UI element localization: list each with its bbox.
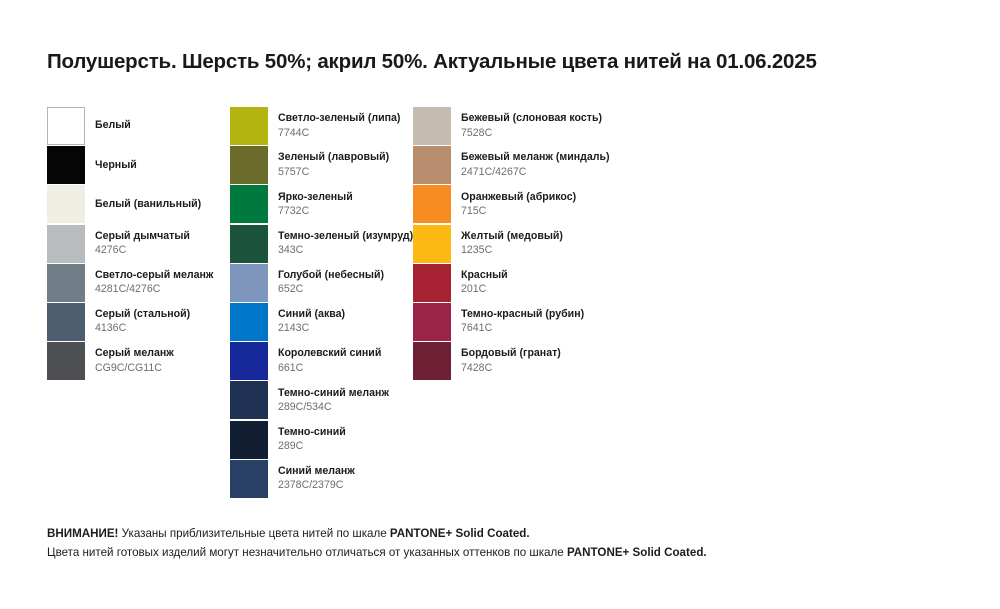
color-swatch xyxy=(230,381,268,419)
disclaimer-line-1-text: Указаны приблизительные цвета нитей по ш… xyxy=(118,527,389,540)
color-swatch xyxy=(47,225,85,263)
color-card-page: Полушерсть. Шерсть 50%; акрил 50%. Актуа… xyxy=(0,0,1000,609)
color-swatch-row[interactable]: Зеленый (лавровый)5757C xyxy=(230,146,430,185)
swatch-pantone-code: 4276C xyxy=(95,244,190,257)
swatch-name: Голубой (небесный) xyxy=(278,269,384,282)
swatch-name: Светло-серый меланж xyxy=(95,269,213,282)
color-swatch xyxy=(413,264,451,302)
swatch-name: Синий меланж xyxy=(278,465,355,478)
color-swatch-row[interactable]: Светло-зеленый (липа)7744C xyxy=(230,107,430,146)
swatch-name: Оранжевый (абрикос) xyxy=(461,191,576,204)
color-swatch xyxy=(413,185,451,223)
color-swatch xyxy=(47,185,85,223)
color-swatch xyxy=(230,303,268,341)
swatch-name: Бежевый меланж (миндаль) xyxy=(461,151,610,164)
swatch-labels: Синий меланж2378C/2379C xyxy=(278,460,355,498)
swatch-labels: Бежевый меланж (миндаль)2471C/4267C xyxy=(461,146,610,184)
swatch-name: Бежевый (слоновая кость) xyxy=(461,112,602,125)
swatch-pantone-code: 661C xyxy=(278,362,381,375)
color-swatch xyxy=(230,342,268,380)
swatch-name: Черный xyxy=(95,159,137,172)
disclaimer-line-2: Цвета нитей готовых изделий могут незнач… xyxy=(47,544,947,563)
swatch-labels: Светло-серый меланж4281C/4276C xyxy=(95,264,213,302)
swatch-pantone-code: 7744C xyxy=(278,127,400,140)
color-swatch xyxy=(47,264,85,302)
swatch-labels: Бордовый (гранат)7428C xyxy=(461,342,561,380)
color-swatch xyxy=(413,146,451,184)
color-swatch-row[interactable]: Оранжевый (абрикос)715C xyxy=(413,185,613,224)
color-swatch xyxy=(230,107,268,145)
color-swatch-row[interactable]: Светло-серый меланж4281C/4276C xyxy=(47,264,247,303)
swatch-name: Желтый (медовый) xyxy=(461,230,563,243)
swatch-labels: Желтый (медовый)1235C xyxy=(461,225,563,263)
swatch-labels: Бежевый (слоновая кость)7528C xyxy=(461,107,602,145)
swatch-pantone-code: 715C xyxy=(461,205,576,218)
color-swatch xyxy=(413,342,451,380)
color-swatch-row[interactable]: Синий меланж2378C/2379C xyxy=(230,460,430,499)
color-swatch-row[interactable]: Серый меланжCG9C/CG11C xyxy=(47,342,247,381)
color-swatch-row[interactable]: Серый (стальной)4136C xyxy=(47,303,247,342)
swatch-name: Белый (ванильный) xyxy=(95,198,201,211)
swatch-labels: Красный201C xyxy=(461,264,508,302)
color-swatch-row[interactable]: Красный201C xyxy=(413,264,613,303)
swatch-labels: Оранжевый (абрикос)715C xyxy=(461,185,576,223)
swatch-labels: Зеленый (лавровый)5757C xyxy=(278,146,389,184)
color-swatch-row[interactable]: Темно-синий меланж289C/534C xyxy=(230,381,430,420)
swatch-name: Светло-зеленый (липа) xyxy=(278,112,400,125)
color-swatch xyxy=(413,225,451,263)
color-swatch-row[interactable]: Белый (ванильный) xyxy=(47,185,247,224)
color-swatch-row[interactable]: Бежевый меланж (миндаль)2471C/4267C xyxy=(413,146,613,185)
swatch-name: Темно-синий xyxy=(278,426,346,439)
color-swatch xyxy=(47,342,85,380)
color-swatch xyxy=(230,421,268,459)
color-swatch-row[interactable]: Бежевый (слоновая кость)7528C xyxy=(413,107,613,146)
disclaimer-note: ВНИМАНИЕ! Указаны приблизительные цвета … xyxy=(47,525,947,563)
swatch-name: Белый xyxy=(95,119,131,132)
swatch-pantone-code: 7428C xyxy=(461,362,561,375)
color-swatch xyxy=(230,460,268,498)
swatch-pantone-code: 7528C xyxy=(461,127,602,140)
swatch-labels: Темно-зеленый (изумруд)343C xyxy=(278,225,413,263)
disclaimer-line-1: ВНИМАНИЕ! Указаны приблизительные цвета … xyxy=(47,525,947,544)
color-swatch-row[interactable]: Темно-зеленый (изумруд)343C xyxy=(230,225,430,264)
color-swatch-row[interactable]: Белый xyxy=(47,107,247,146)
color-swatch-row[interactable]: Черный xyxy=(47,146,247,185)
swatch-pantone-code: 289C xyxy=(278,440,346,453)
swatch-pantone-code: 343C xyxy=(278,244,413,257)
swatch-labels: Темно-красный (рубин)7641C xyxy=(461,303,584,341)
swatch-labels: Синий (аква)2143C xyxy=(278,303,345,341)
color-swatch xyxy=(47,146,85,184)
swatch-name: Красный xyxy=(461,269,508,282)
color-swatch xyxy=(47,107,85,145)
swatch-labels: Королевский синий661C xyxy=(278,342,381,380)
swatch-name: Зеленый (лавровый) xyxy=(278,151,389,164)
color-swatch xyxy=(230,185,268,223)
swatch-labels: Черный xyxy=(95,146,137,184)
swatch-labels: Серый дымчатый4276C xyxy=(95,225,190,263)
color-swatch-row[interactable]: Королевский синий661C xyxy=(230,342,430,381)
palette-column: БелыйЧерныйБелый (ванильный)Серый дымчат… xyxy=(47,107,247,381)
swatch-labels: Светло-зеленый (липа)7744C xyxy=(278,107,400,145)
swatch-labels: Серый (стальной)4136C xyxy=(95,303,190,341)
pantone-brand-2: PANTONE+ Solid Coated. xyxy=(567,546,707,559)
swatch-name: Серый дымчатый xyxy=(95,230,190,243)
color-swatch xyxy=(413,303,451,341)
swatch-pantone-code: 2471C/4267C xyxy=(461,166,610,179)
color-swatch xyxy=(230,146,268,184)
disclaimer-line-2-text: Цвета нитей готовых изделий могут незнач… xyxy=(47,546,567,559)
swatch-name: Темно-зеленый (изумруд) xyxy=(278,230,413,243)
swatch-labels: Белый xyxy=(95,107,131,145)
color-swatch-row[interactable]: Ярко-зеленый7732C xyxy=(230,185,430,224)
swatch-name: Бордовый (гранат) xyxy=(461,347,561,360)
swatch-name: Синий (аква) xyxy=(278,308,345,321)
swatch-name: Серый меланж xyxy=(95,347,174,360)
pantone-brand-1: PANTONE+ Solid Coated. xyxy=(390,527,530,540)
color-swatch xyxy=(47,303,85,341)
swatch-name: Темно-синий меланж xyxy=(278,387,389,400)
swatch-pantone-code: 652C xyxy=(278,283,384,296)
swatch-pantone-code: 2143C xyxy=(278,322,345,335)
swatch-labels: Голубой (небесный)652C xyxy=(278,264,384,302)
swatch-pantone-code: 289C/534C xyxy=(278,401,389,414)
swatch-name: Королевский синий xyxy=(278,347,381,360)
palette-column: Бежевый (слоновая кость)7528CБежевый мел… xyxy=(413,107,613,381)
swatch-pantone-code: 4281C/4276C xyxy=(95,283,213,296)
color-swatch-row[interactable]: Голубой (небесный)652C xyxy=(230,264,430,303)
swatch-labels: Серый меланжCG9C/CG11C xyxy=(95,342,174,380)
swatch-labels: Темно-синий меланж289C/534C xyxy=(278,381,389,419)
swatch-pantone-code: 2378C/2379C xyxy=(278,479,355,492)
palette-column: Светло-зеленый (липа)7744CЗеленый (лавро… xyxy=(230,107,430,499)
swatch-pantone-code: 1235C xyxy=(461,244,563,257)
color-swatch-row[interactable]: Темно-красный (рубин)7641C xyxy=(413,303,613,342)
color-swatch xyxy=(413,107,451,145)
color-swatch-row[interactable]: Желтый (медовый)1235C xyxy=(413,225,613,264)
attention-label: ВНИМАНИЕ! xyxy=(47,527,118,540)
color-swatch xyxy=(230,264,268,302)
swatch-pantone-code: CG9C/CG11C xyxy=(95,362,174,375)
swatch-pantone-code: 4136C xyxy=(95,322,190,335)
swatch-labels: Белый (ванильный) xyxy=(95,185,201,223)
color-swatch-row[interactable]: Синий (аква)2143C xyxy=(230,303,430,342)
swatch-name: Ярко-зеленый xyxy=(278,191,353,204)
swatch-name: Темно-красный (рубин) xyxy=(461,308,584,321)
color-swatch xyxy=(230,225,268,263)
swatch-pantone-code: 7732C xyxy=(278,205,353,218)
swatch-pantone-code: 5757C xyxy=(278,166,389,179)
color-swatch-row[interactable]: Бордовый (гранат)7428C xyxy=(413,342,613,381)
swatch-pantone-code: 201C xyxy=(461,283,508,296)
color-swatch-row[interactable]: Темно-синий289C xyxy=(230,421,430,460)
swatch-pantone-code: 7641C xyxy=(461,322,584,335)
swatch-name: Серый (стальной) xyxy=(95,308,190,321)
swatch-labels: Ярко-зеленый7732C xyxy=(278,185,353,223)
color-swatch-row[interactable]: Серый дымчатый4276C xyxy=(47,225,247,264)
page-title: Полушерсть. Шерсть 50%; акрил 50%. Актуа… xyxy=(47,50,817,74)
swatch-labels: Темно-синий289C xyxy=(278,421,346,459)
